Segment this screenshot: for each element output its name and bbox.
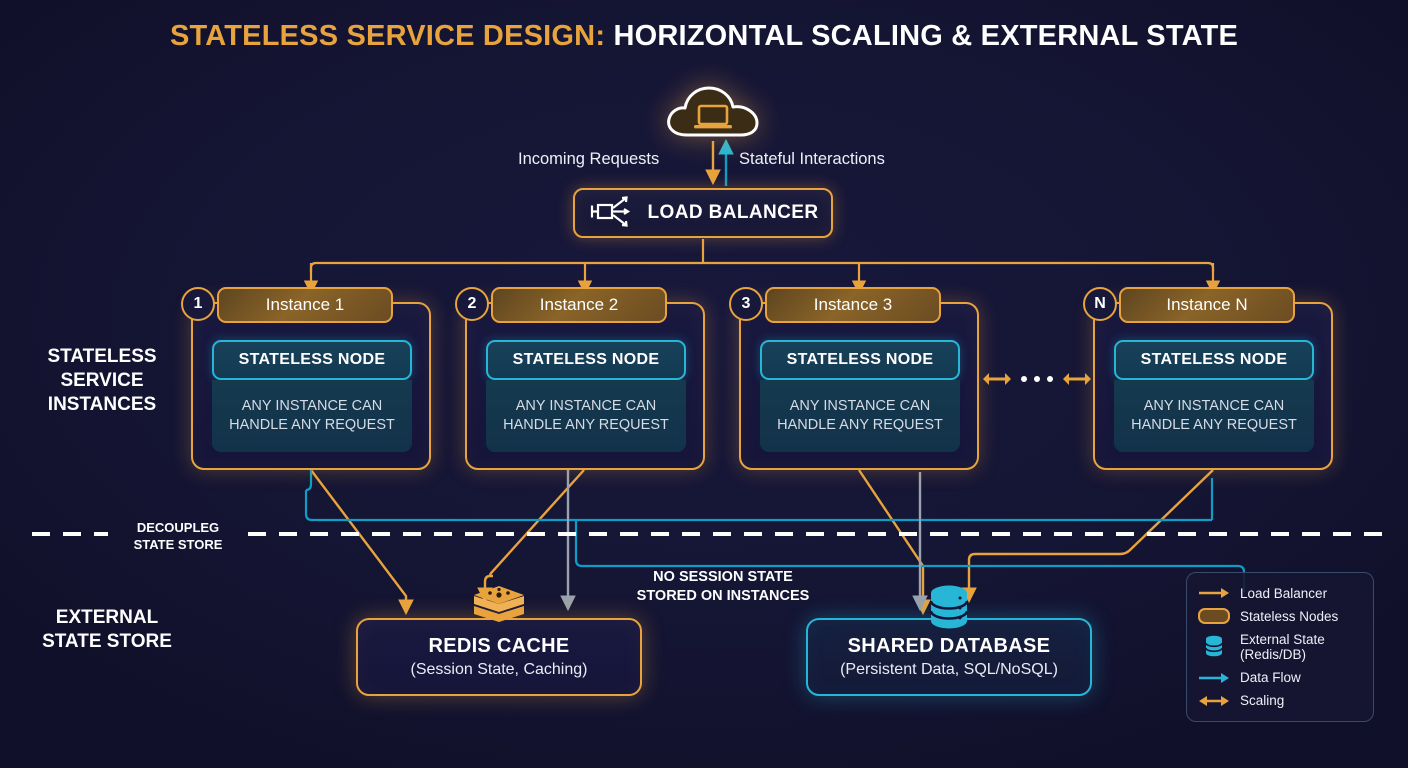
ellipsis-dots bbox=[1021, 376, 1053, 382]
instance-subtext-line: ANY INSTANCE CAN bbox=[1144, 397, 1284, 416]
load-balancer-distribute-icon bbox=[588, 194, 634, 233]
diagram-canvas: STATELESS SERVICE DESIGN: HORIZONTAL SCA… bbox=[0, 0, 1408, 768]
incoming-requests-label: Incoming Requests bbox=[518, 150, 659, 169]
instance-badge-n: N bbox=[1083, 287, 1117, 321]
divider-label-line: DECOUPLEG bbox=[113, 519, 243, 536]
section-label-line: SERVICE bbox=[22, 369, 182, 393]
instance-subtext-line: HANDLE ANY REQUEST bbox=[777, 416, 943, 435]
instance-subtext-3: ANY INSTANCE CAN HANDLE ANY REQUEST bbox=[760, 380, 960, 452]
arrow-right-orange-icon bbox=[1197, 587, 1231, 599]
instance-badge-3: 3 bbox=[729, 287, 763, 321]
note-line: STORED ON INSTANCES bbox=[598, 587, 848, 606]
legend-label: Load Balancer bbox=[1240, 586, 1327, 602]
load-balancer-label: LOAD BALANCER bbox=[648, 202, 819, 224]
legend-panel: Load Balancer Stateless Nodes bbox=[1186, 572, 1374, 722]
section-label-line: STATE STORE bbox=[22, 630, 192, 654]
instance-badge-1: 1 bbox=[181, 287, 215, 321]
scaling-indicator bbox=[982, 362, 1092, 396]
stateful-interactions-label: Stateful Interactions bbox=[739, 150, 885, 169]
note-line: NO SESSION STATE bbox=[598, 568, 848, 587]
section-label-line: EXTERNAL bbox=[22, 606, 192, 630]
instance-header-3: Instance 3 bbox=[765, 287, 941, 323]
load-balancer-node[interactable]: LOAD BALANCER bbox=[573, 188, 833, 238]
shared-database-subtitle: (Persistent Data, SQL/NoSQL) bbox=[840, 661, 1058, 679]
arrow-double-orange-icon bbox=[1062, 371, 1092, 387]
instance-subtext-line: HANDLE ANY REQUEST bbox=[1131, 416, 1297, 435]
instance-subtext-1: ANY INSTANCE CAN HANDLE ANY REQUEST bbox=[212, 380, 412, 452]
database-cylinder-icon bbox=[1197, 635, 1231, 659]
rounded-pill-orange-icon bbox=[1197, 608, 1231, 624]
divider-label-line: STATE STORE bbox=[113, 536, 243, 553]
instance-card-3[interactable]: 3 Instance 3 STATELESS NODE ANY INSTANCE… bbox=[739, 302, 979, 470]
legend-item-external-state: External State (Redis/DB) bbox=[1197, 632, 1363, 663]
legend-item-stateless-nodes: Stateless Nodes bbox=[1197, 608, 1363, 624]
shared-database-node[interactable]: SHARED DATABASE (Persistent Data, SQL/No… bbox=[806, 618, 1092, 696]
cloud-laptop-icon bbox=[663, 83, 763, 141]
redis-cache-title: REDIS CACHE bbox=[428, 635, 569, 658]
redis-layers-icon bbox=[472, 584, 526, 635]
instance-subtext-n: ANY INSTANCE CAN HANDLE ANY REQUEST bbox=[1114, 380, 1314, 452]
stateless-node-3: STATELESS NODE bbox=[760, 340, 960, 380]
redis-cache-subtitle: (Session State, Caching) bbox=[411, 661, 588, 679]
instance-card-1[interactable]: 1 Instance 1 STATELESS NODE ANY INSTANCE… bbox=[191, 302, 431, 470]
redis-cache-node[interactable]: REDIS CACHE (Session State, Caching) bbox=[356, 618, 642, 696]
instance-card-2[interactable]: 2 Instance 2 STATELESS NODE ANY INSTANCE… bbox=[465, 302, 705, 470]
section-label-external-store: EXTERNAL STATE STORE bbox=[22, 606, 192, 654]
instance-subtext-line: HANDLE ANY REQUEST bbox=[229, 416, 395, 435]
section-label-line: STATELESS bbox=[22, 345, 182, 369]
instance-badge-2: 2 bbox=[455, 287, 489, 321]
title-plain: HORIZONTAL SCALING & EXTERNAL STATE bbox=[613, 20, 1238, 52]
instance-header-1: Instance 1 bbox=[217, 287, 393, 323]
page-title: STATELESS SERVICE DESIGN: HORIZONTAL SCA… bbox=[0, 20, 1408, 53]
stateless-node-1: STATELESS NODE bbox=[212, 340, 412, 380]
instance-subtext-line: ANY INSTANCE CAN bbox=[516, 397, 656, 416]
instance-subtext-line: ANY INSTANCE CAN bbox=[790, 397, 930, 416]
section-label-line: INSTANCES bbox=[22, 393, 182, 417]
arrow-double-orange-icon bbox=[1197, 695, 1231, 707]
legend-label: Stateless Nodes bbox=[1240, 609, 1338, 625]
title-accent: STATELESS SERVICE DESIGN: bbox=[170, 20, 605, 52]
instance-subtext-line: HANDLE ANY REQUEST bbox=[503, 416, 669, 435]
stateless-node-n: STATELESS NODE bbox=[1114, 340, 1314, 380]
instance-subtext-2: ANY INSTANCE CAN HANDLE ANY REQUEST bbox=[486, 380, 686, 452]
section-label-instances: STATELESS SERVICE INSTANCES bbox=[22, 345, 182, 417]
instance-card-n[interactable]: N Instance N STATELESS NODE ANY INSTANCE… bbox=[1093, 302, 1333, 470]
legend-item-load-balancer: Load Balancer bbox=[1197, 586, 1363, 602]
legend-item-data-flow: Data Flow bbox=[1197, 670, 1363, 686]
legend-label: Data Flow bbox=[1240, 670, 1301, 686]
no-session-state-note: NO SESSION STATE STORED ON INSTANCES bbox=[598, 568, 848, 607]
legend-label: Scaling bbox=[1240, 693, 1284, 709]
database-cylinder-icon bbox=[926, 584, 972, 637]
arrow-double-orange-icon bbox=[982, 371, 1012, 387]
legend-label-line: (Redis/DB) bbox=[1240, 647, 1306, 662]
stateless-node-2: STATELESS NODE bbox=[486, 340, 686, 380]
legend-item-scaling: Scaling bbox=[1197, 693, 1363, 709]
instance-subtext-line: ANY INSTANCE CAN bbox=[242, 397, 382, 416]
instance-header-2: Instance 2 bbox=[491, 287, 667, 323]
divider-label-decoupled: DECOUPLEG STATE STORE bbox=[113, 519, 243, 554]
instance-header-n: Instance N bbox=[1119, 287, 1295, 323]
legend-label-line: External State bbox=[1240, 632, 1325, 647]
shared-database-title: SHARED DATABASE bbox=[848, 635, 1051, 658]
arrow-right-cyan-icon bbox=[1197, 672, 1231, 684]
legend-label: External State (Redis/DB) bbox=[1240, 632, 1325, 663]
